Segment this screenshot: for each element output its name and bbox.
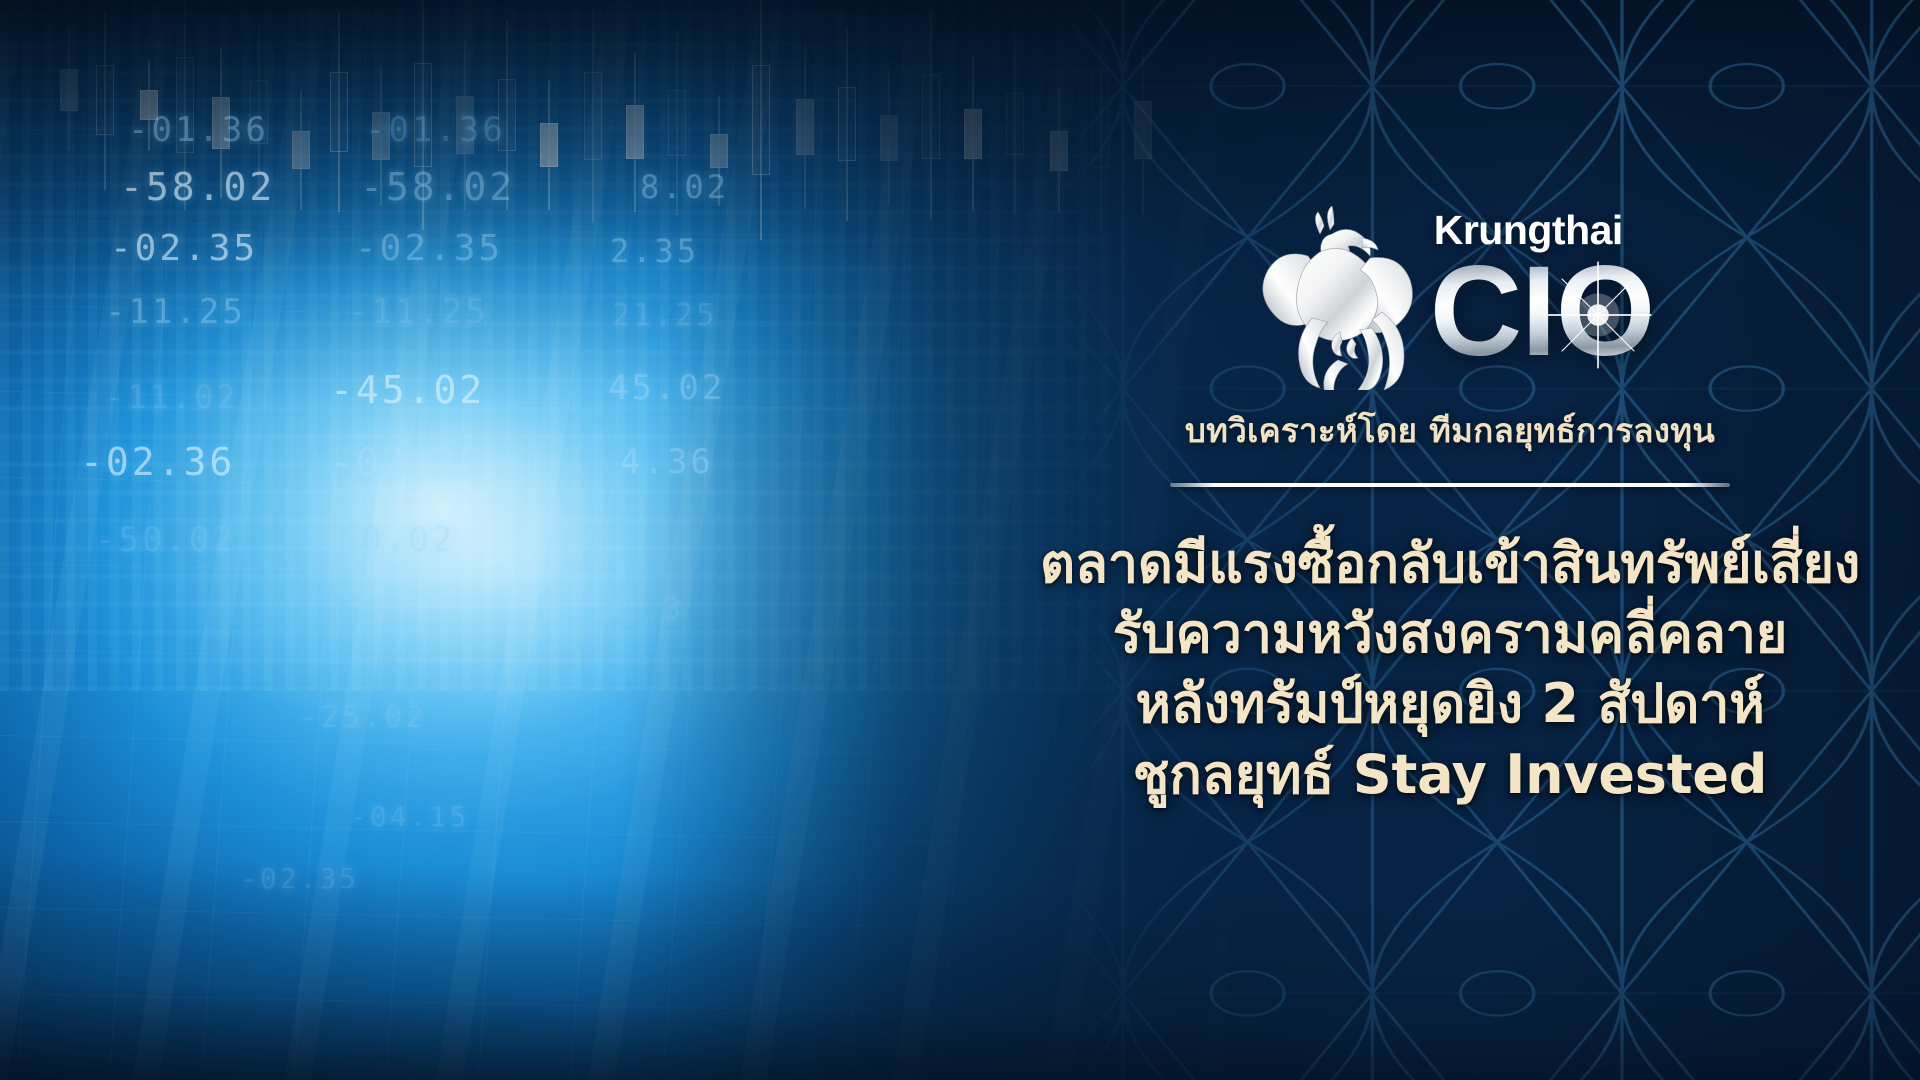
content-panel: Krungthai CIO บทวิเคร <box>980 0 1920 1080</box>
section-divider <box>1170 483 1730 487</box>
headline-line-2: รับความหวังสงครามคลี่คลาย <box>1113 599 1788 669</box>
brand-product-cio: CIO <box>1430 253 1655 371</box>
headline-line-1: ตลาดมีแรงซื้อกลับเข้าสินทรัพย์เสี่ยง <box>1040 529 1860 599</box>
headline-block: ตลาดมีแรงซื้อกลับเข้าสินทรัพย์เสี่ยง รับ… <box>1040 529 1860 810</box>
krungthai-garuda-icon <box>1246 190 1436 390</box>
analysis-byline: บทวิเคราะห์โดย ทีมกลยุทธ์การลงทุน <box>1185 404 1715 457</box>
brand-product-cio-text: CIO <box>1430 240 1655 383</box>
brand-text-block: Krungthai CIO <box>1430 210 1655 371</box>
headline-line-3: หลังทรัมป์หยุดยิง 2 สัปดาห์ <box>1135 669 1764 739</box>
headline-line-4: ชูกลยุทธ์ Stay Invested <box>1133 740 1768 810</box>
banner-root: -01.36-01.36-58.02-58.02-02.35-02.35-11.… <box>0 0 1920 1080</box>
brand-logo-row: Krungthai CIO <box>1246 190 1655 390</box>
